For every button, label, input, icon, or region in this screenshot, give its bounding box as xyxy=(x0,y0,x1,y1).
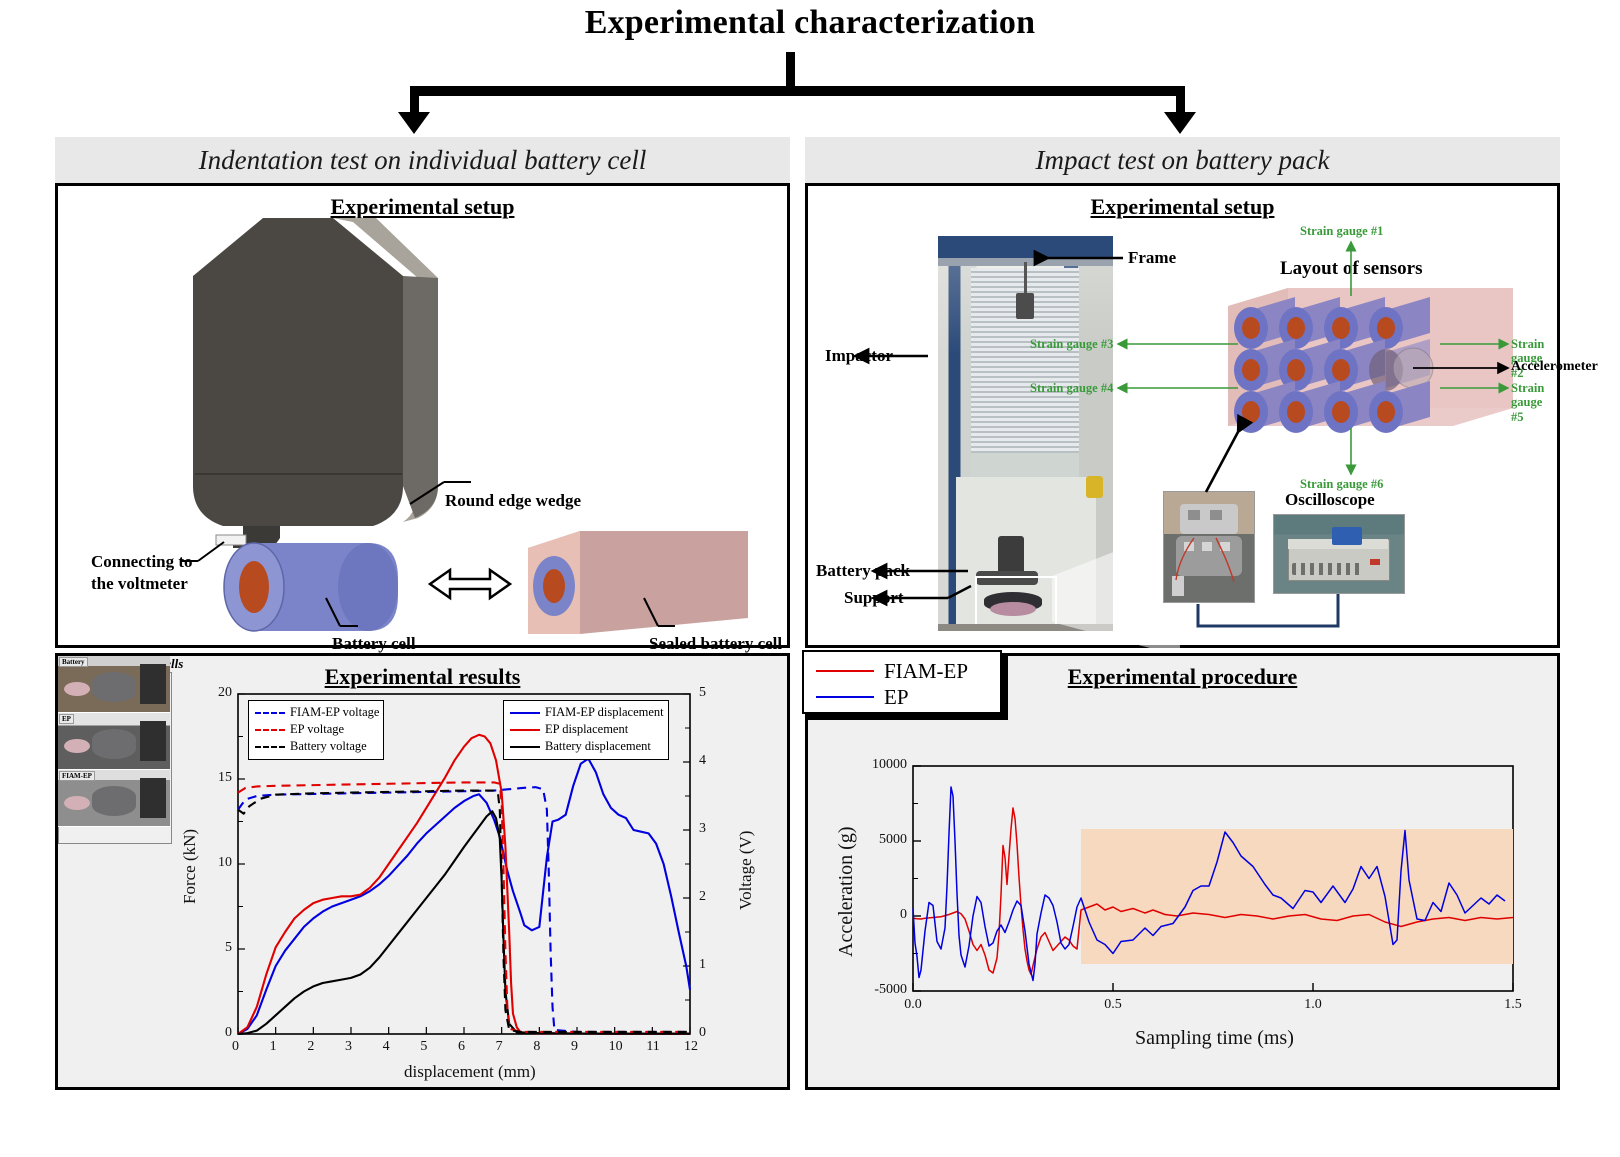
connector-left-drop xyxy=(410,86,419,114)
label-battery-cell: Battery cell xyxy=(332,634,416,654)
xtick-3: 3 xyxy=(345,1039,352,1055)
legend-voltage-swatch-0 xyxy=(255,712,285,714)
label-connecting-voltmeter-line1: Connecting to xyxy=(91,552,193,572)
panel-impact-procedure: Experimental procedure 0.00.51.01.5-5000… xyxy=(805,653,1560,1090)
legend-displacement-swatch-0 xyxy=(510,712,540,714)
panel-indentation-results: Experimental results 0123456789101112051… xyxy=(55,653,790,1090)
legend-displacement-label-1: EP displacement xyxy=(545,722,628,737)
y2tick-4: 4 xyxy=(699,753,706,769)
yaxis-label-impact: Acceleration (g) xyxy=(835,826,858,956)
panel-impact-setup: Experimental setup xyxy=(805,183,1560,648)
inset-tag-fiam-ep: FIAM-EP xyxy=(59,771,95,781)
inset-dark-2 xyxy=(140,778,166,818)
ytick-20: 20 xyxy=(208,685,232,701)
legend-impact-swatch-1 xyxy=(816,696,874,698)
xtick-12: 12 xyxy=(684,1039,698,1055)
y2tick-2: 2 xyxy=(699,889,706,905)
xtick-0: 0 xyxy=(232,1039,239,1055)
inset-photo-stack: BatteryEPFIAM-EP xyxy=(58,672,172,844)
legend-impact-swatch-0 xyxy=(816,670,874,672)
xtick-4: 4 xyxy=(383,1039,390,1055)
ytick2-0: -5000 xyxy=(851,982,907,998)
chart-indentation-results: 012345678910111205101520012345displaceme… xyxy=(58,656,793,1093)
legend-displacement-row-0: FIAM-EP displacement xyxy=(506,704,664,721)
ytick-10: 10 xyxy=(208,855,232,871)
arrow-left-icon xyxy=(398,112,430,134)
xtick2-0: 0.0 xyxy=(900,997,926,1013)
xaxis-label-indentation: displacement (mm) xyxy=(404,1062,536,1082)
legend-voltage-label-1: EP voltage xyxy=(290,722,344,737)
label-battery-pack: Battery pack xyxy=(816,561,910,581)
column-header-impact: Impact test on battery pack xyxy=(805,137,1560,183)
xtick-10: 10 xyxy=(609,1039,623,1055)
xtick-6: 6 xyxy=(458,1039,465,1055)
legend-voltage-row-2: Battery voltage xyxy=(251,738,379,755)
xtick-1: 1 xyxy=(270,1039,277,1055)
legend-voltage-label-2: Battery voltage xyxy=(290,739,367,754)
inset-disc-2 xyxy=(64,796,90,810)
ytick2-1: 0 xyxy=(851,907,907,923)
setup-callout-arrows xyxy=(808,186,1563,651)
xtick2-2: 1.0 xyxy=(1300,997,1326,1013)
xtick-9: 9 xyxy=(571,1039,578,1055)
inset-dark-1 xyxy=(140,721,166,761)
y2tick-5: 5 xyxy=(699,685,706,701)
legend-displacement-label-2: Battery displacement xyxy=(545,739,651,754)
y2tick-0: 0 xyxy=(699,1025,706,1041)
inset-fixture-2 xyxy=(92,786,136,816)
xtick2-1: 0.5 xyxy=(1100,997,1126,1013)
xtick-11: 11 xyxy=(646,1039,659,1055)
connector-right-drop xyxy=(1176,86,1185,114)
label-support: Support xyxy=(844,588,904,608)
xtick2-3: 1.5 xyxy=(1500,997,1526,1013)
legend-voltage-swatch-2 xyxy=(255,746,285,748)
inset-disc-0 xyxy=(64,682,90,696)
ytick2-3: 10000 xyxy=(851,757,907,773)
legend-voltage-label-0: FIAM-EP voltage xyxy=(290,705,379,720)
label-impactor: Impactor xyxy=(825,346,893,366)
legend-displacement-label-0: FIAM-EP displacement xyxy=(545,705,664,720)
column-header-indentation: Indentation test on individual battery c… xyxy=(55,137,790,183)
inset-photo-fiam-ep: FIAM-EP xyxy=(58,770,170,827)
inset-photo-battery: Battery xyxy=(58,672,170,713)
legend-impact: FIAM-EPEP xyxy=(802,650,1002,714)
inset-fixture-0 xyxy=(92,672,136,702)
xtick-5: 5 xyxy=(420,1039,427,1055)
legend-impact-label-1: EP xyxy=(884,685,909,710)
legend-impact-shadow: FIAM-EPEP xyxy=(808,656,1008,720)
xtick-2: 2 xyxy=(307,1039,314,1055)
panel-indentation-setup: Experimental setup Round edge we xyxy=(55,183,790,648)
inset-disc-1 xyxy=(64,739,90,753)
label-frame: Frame xyxy=(1128,248,1176,268)
ytick-0: 0 xyxy=(208,1025,232,1041)
y2axis-label-indentation: Voltage (V) xyxy=(736,831,756,910)
y2tick-3: 3 xyxy=(699,821,706,837)
legend-displacement-row-2: Battery displacement xyxy=(506,738,664,755)
legend-voltage-row-1: EP voltage xyxy=(251,721,379,738)
label-connecting-voltmeter-line2: the voltmeter xyxy=(91,574,188,594)
connector-bar xyxy=(410,86,1185,96)
legend-voltage: FIAM-EP voltageEP voltageBattery voltage xyxy=(248,700,384,760)
y2tick-1: 1 xyxy=(699,957,706,973)
ytick-15: 15 xyxy=(208,770,232,786)
yaxis-label-indentation: Force (kN) xyxy=(180,829,200,904)
ytick-5: 5 xyxy=(208,940,232,956)
legend-displacement-swatch-1 xyxy=(510,729,540,731)
legend-displacement-row-1: EP displacement xyxy=(506,721,664,738)
legend-impact-row-1: EP xyxy=(812,684,992,710)
ytick2-2: 5000 xyxy=(851,832,907,848)
page-title: Experimental characterization xyxy=(0,4,1620,42)
inset-photo-ep: EP xyxy=(58,713,170,770)
xaxis-label-impact: Sampling time (ms) xyxy=(1135,1027,1294,1050)
inset-fixture-1 xyxy=(92,729,136,759)
label-sealed-battery-cell: Sealed battery cell xyxy=(649,634,782,654)
xtick-8: 8 xyxy=(533,1039,540,1055)
chart-impact-procedure: 0.00.51.01.5-50000500010000Sampling time… xyxy=(808,656,1563,1093)
inset-dark-0 xyxy=(140,672,166,704)
xtick-7: 7 xyxy=(496,1039,503,1055)
legend-displacement: FIAM-EP displacementEP displacementBatte… xyxy=(503,700,669,760)
arrow-right-icon xyxy=(1164,112,1196,134)
legend-voltage-row-0: FIAM-EP voltage xyxy=(251,704,379,721)
inset-tag-ep: EP xyxy=(59,714,74,724)
legend-impact-label-0: FIAM-EP xyxy=(884,659,968,684)
label-round-edge-wedge: Round edge wedge xyxy=(445,491,581,511)
legend-displacement-swatch-2 xyxy=(510,746,540,748)
connector-stem xyxy=(786,52,795,88)
legend-impact-row-0: FIAM-EP xyxy=(812,658,992,684)
highlight-band xyxy=(1081,829,1513,964)
legend-voltage-swatch-1 xyxy=(255,729,285,731)
